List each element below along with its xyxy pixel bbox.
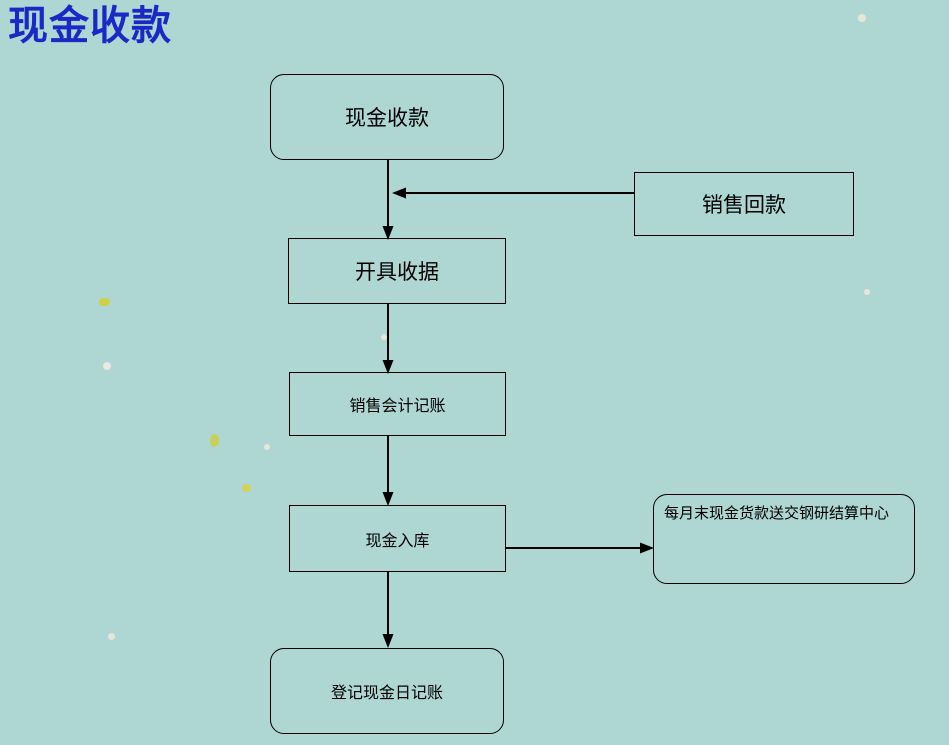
node-label: 现金入库: [290, 527, 505, 551]
node-sales-collection[interactable]: 销售回款: [634, 172, 854, 236]
node-label: 开具收据: [289, 256, 505, 286]
edge-cash-storage-to-monthly-transfer: [506, 541, 654, 555]
background-speck: [210, 434, 219, 447]
edge-issue-receipt-to-sales-accounting: [381, 304, 395, 374]
edge-sales-accounting-to-cash-storage: [381, 436, 395, 506]
diagram-canvas: 现金收款 现金收款 销售回款 开具收据 销售会计记账 现金入库 每月末现金货款送…: [0, 0, 949, 745]
node-sales-accounting-entry[interactable]: 销售会计记账: [289, 372, 506, 436]
node-label: 销售回款: [635, 189, 853, 219]
edge-sales-collection-to-main-flow: [392, 186, 638, 200]
edge-cash-receipt-to-issue-receipt: [381, 160, 395, 240]
edge-cash-storage-to-cash-journal: [381, 572, 395, 648]
background-speck: [103, 362, 111, 370]
background-speck: [108, 633, 115, 640]
node-cash-into-storage[interactable]: 现金入库: [289, 505, 506, 572]
node-issue-receipt[interactable]: 开具收据: [288, 238, 506, 304]
background-speck: [242, 484, 251, 492]
node-label: 销售会计记账: [290, 392, 505, 416]
node-label: 每月末现金货款送交钢研结算中心: [654, 503, 914, 525]
node-cash-receipt[interactable]: 现金收款: [270, 74, 504, 160]
page-title: 现金收款: [8, 6, 172, 46]
node-monthly-cash-transfer[interactable]: 每月末现金货款送交钢研结算中心: [653, 494, 915, 584]
node-label: 登记现金日记账: [271, 679, 503, 703]
node-register-cash-journal[interactable]: 登记现金日记账: [270, 648, 504, 734]
background-speck: [864, 289, 870, 295]
background-speck: [264, 444, 270, 450]
background-speck: [99, 298, 110, 306]
node-label: 现金收款: [271, 102, 503, 132]
background-speck: [858, 14, 866, 22]
